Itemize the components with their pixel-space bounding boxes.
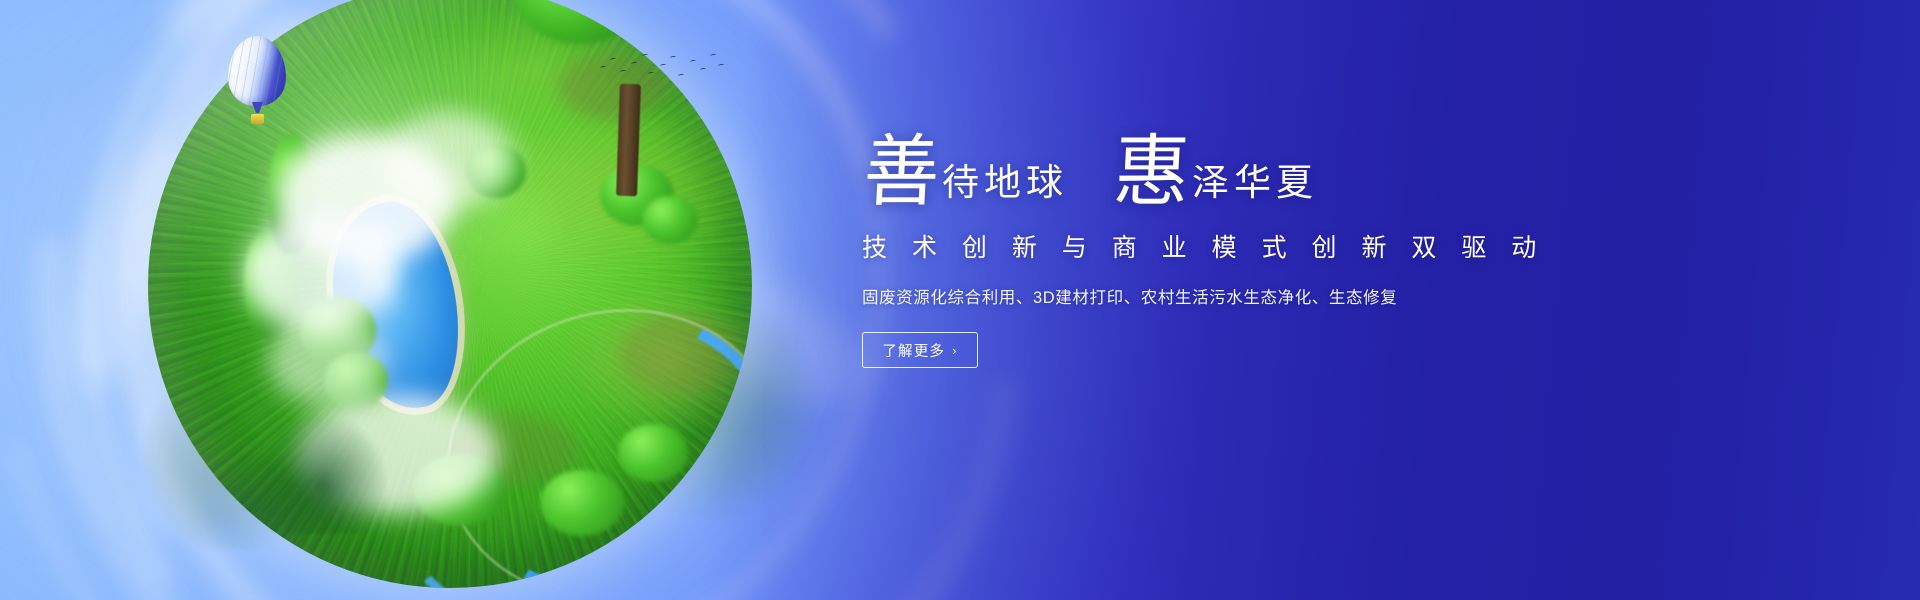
learn-more-button[interactable]: 了解更多 › bbox=[862, 332, 978, 368]
headline-group-1: 善 待地球 bbox=[862, 140, 1068, 208]
chevron-right-icon: › bbox=[952, 343, 958, 358]
hero-banner: 善 待地球 惠 泽华夏 技 术 创 新 与 商 业 模 式 创 新 双 驱 动 … bbox=[0, 0, 1920, 600]
hero-copy-block: 善 待地球 惠 泽华夏 技 术 创 新 与 商 业 模 式 创 新 双 驱 动 … bbox=[862, 112, 1862, 368]
headline-small-text-1: 待地球 bbox=[942, 164, 1068, 201]
page-title: 善 待地球 惠 泽华夏 bbox=[862, 112, 1862, 208]
headline-big-char-2: 惠 bbox=[1112, 136, 1191, 208]
service-list-text: 固废资源化综合利用、3D建材打印、农村生活污水生态净化、生态修复 bbox=[862, 284, 1862, 308]
headline-group-2: 惠 泽华夏 bbox=[1112, 140, 1318, 208]
headline-small-text-2: 泽华夏 bbox=[1192, 164, 1318, 201]
learn-more-label: 了解更多 bbox=[882, 340, 945, 361]
page-subtitle: 技 术 创 新 与 商 业 模 式 创 新 双 驱 动 bbox=[862, 228, 1862, 264]
headline-big-char-1: 善 bbox=[862, 136, 941, 208]
